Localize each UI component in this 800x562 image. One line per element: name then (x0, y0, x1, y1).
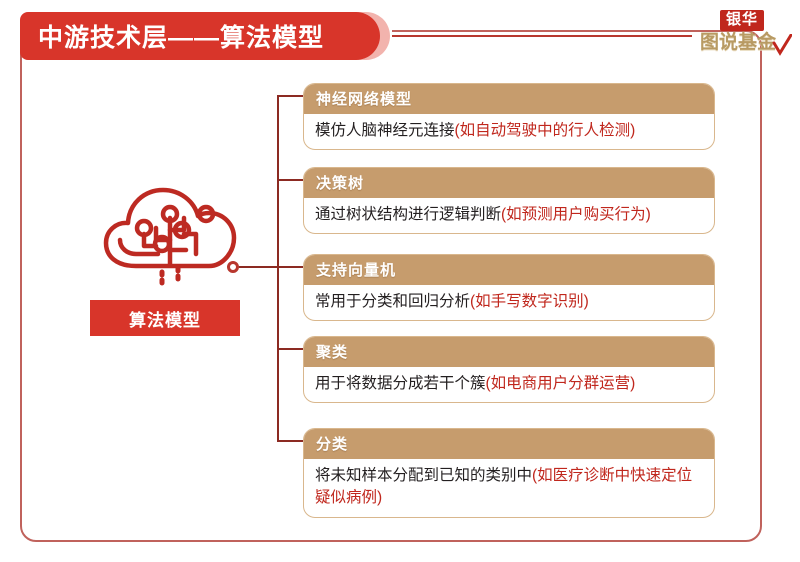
connector-stub-3 (277, 266, 303, 268)
connector-stub-1 (277, 95, 303, 97)
item-card-desc: 用于将数据分成若干个簇 (315, 375, 486, 392)
item-card-desc: 通过树状结构进行逻辑判断 (315, 206, 501, 223)
page-title: 中游技术层——算法模型 (20, 12, 380, 60)
cloud-circuit-icon (100, 178, 240, 288)
item-card[interactable]: 分类 将未知样本分配到已知的类别中(如医疗诊断中快速定位疑似病例) (303, 428, 715, 518)
left-node-label-text: 算法模型 (129, 306, 201, 331)
logo-brand-text: 银华 (720, 10, 764, 31)
item-card[interactable]: 支持向量机 常用于分类和回归分析(如手写数字识别) (303, 254, 715, 321)
item-card-body: 常用于分类和回归分析(如手写数字识别) (304, 285, 714, 320)
item-card-desc: 将未知样本分配到已知的类别中 (315, 467, 532, 484)
item-card-example: (如预测用户购买行为) (501, 206, 651, 223)
connector-lead-line (239, 266, 279, 268)
item-card-title: 分类 (304, 429, 714, 459)
left-node-label: 算法模型 (90, 300, 240, 336)
item-card-body: 模仿人脑神经元连接(如自动驾驶中的行人检测) (304, 114, 714, 149)
item-card-desc: 模仿人脑神经元连接 (315, 122, 455, 139)
connector-stub-2 (277, 179, 303, 181)
item-card-body: 用于将数据分成若干个簇(如电商用户分群运营) (304, 367, 714, 402)
item-card[interactable]: 神经网络模型 模仿人脑神经元连接(如自动驾驶中的行人检测) (303, 83, 715, 150)
check-icon (772, 34, 792, 56)
item-card-title: 支持向量机 (304, 255, 714, 285)
item-card-title: 神经网络模型 (304, 84, 714, 114)
item-card[interactable]: 决策树 通过树状结构进行逻辑判断(如预测用户购买行为) (303, 167, 715, 234)
item-card-body: 将未知样本分配到已知的类别中(如医疗诊断中快速定位疑似病例) (304, 459, 714, 517)
item-card-desc: 常用于分类和回归分析 (315, 293, 470, 310)
page-title-text: 中游技术层——算法模型 (38, 18, 324, 54)
connector-stub-5 (277, 440, 303, 442)
item-card[interactable]: 聚类 用于将数据分成若干个簇(如电商用户分群运营) (303, 336, 715, 403)
item-card-title: 聚类 (304, 337, 714, 367)
item-card-example: (如自动驾驶中的行人检测) (455, 122, 636, 139)
connector-stub-4 (277, 348, 303, 350)
item-card-example: (如手写数字识别) (470, 293, 589, 310)
item-card-body: 通过树状结构进行逻辑判断(如预测用户购买行为) (304, 198, 714, 233)
infographic-canvas: 中游技术层——算法模型 银华 图说基金 (0, 0, 800, 562)
title-rule (392, 35, 692, 37)
item-card-example: (如电商用户分群运营) (486, 375, 636, 392)
logo-series-text: 图说基金 (700, 32, 776, 55)
item-card-title: 决策树 (304, 168, 714, 198)
brand-logo: 银华 图说基金 (700, 8, 792, 60)
connector-dot (227, 261, 239, 273)
